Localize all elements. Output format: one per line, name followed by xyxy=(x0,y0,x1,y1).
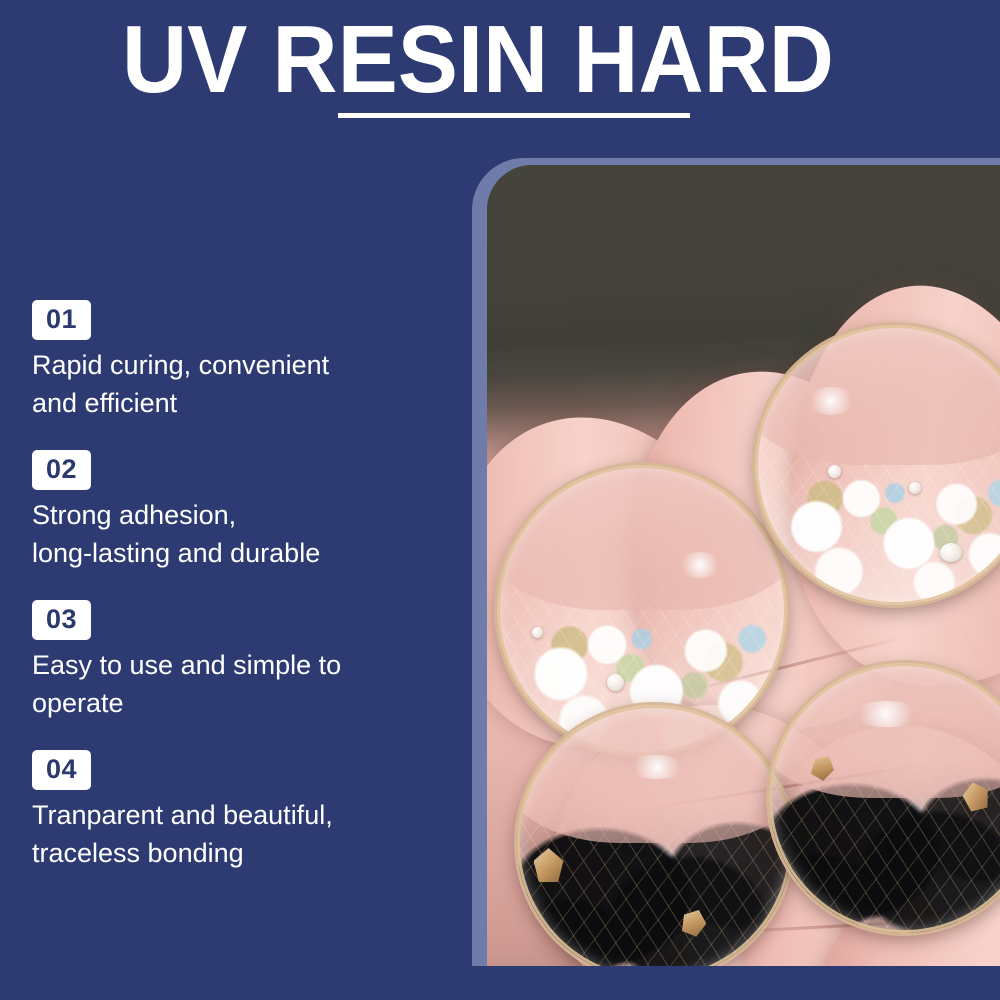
feature-text-03: Easy to use and simple to operate xyxy=(32,646,442,722)
ring-metal-rim xyxy=(517,705,792,966)
feature-list: 01 Rapid curing, convenient and efficien… xyxy=(32,300,442,900)
product-photo-panel xyxy=(472,158,1000,966)
feature-item-01: 01 Rapid curing, convenient and efficien… xyxy=(32,300,442,422)
feature-text-01: Rapid curing, convenient and efficient xyxy=(32,346,442,422)
feature-item-03: 03 Easy to use and simple to operate xyxy=(32,600,442,722)
poster-root: UV RESIN HARD 01 Rapid curing, convenien… xyxy=(0,0,1000,1000)
feature-item-02: 02 Strong adhesion, long-lasting and dur… xyxy=(32,450,442,572)
product-photo xyxy=(487,165,1000,966)
feature-number-badge-04: 04 xyxy=(32,750,91,790)
resin-ring-white-right xyxy=(755,325,1000,605)
title-block: UV RESIN HARD xyxy=(0,0,1000,150)
feature-number-badge-01: 01 xyxy=(32,300,91,340)
feature-text-02: Strong adhesion, long-lasting and durabl… xyxy=(32,496,442,572)
resin-ring-black-right xyxy=(769,663,1000,933)
title-underline-bar xyxy=(338,113,690,118)
feature-number-badge-02: 02 xyxy=(32,450,91,490)
feature-text-04: Tranparent and beautiful, traceless bond… xyxy=(32,796,442,872)
resin-ring-black-left xyxy=(517,705,792,966)
feature-number-badge-03: 03 xyxy=(32,600,91,640)
feature-item-04: 04 Tranparent and beautiful, traceless b… xyxy=(32,750,442,872)
page-title: UV RESIN HARD xyxy=(122,8,834,112)
